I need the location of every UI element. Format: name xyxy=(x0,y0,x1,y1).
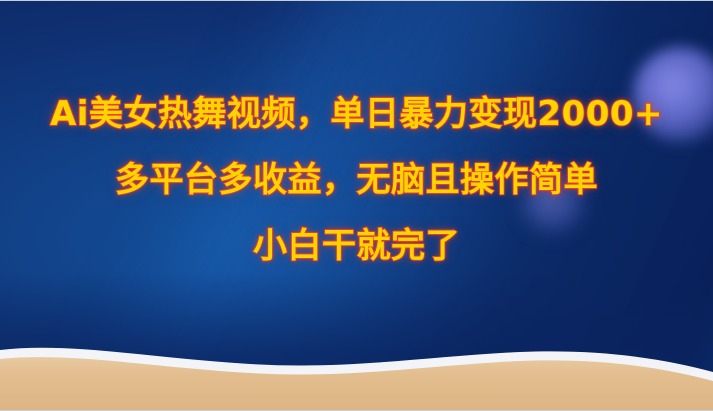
promo-banner: Ai美女热舞视频，单日暴力变现2000+ 多平台多收益，无脑且操作简单 小白干就… xyxy=(0,0,713,411)
sand-wave-footer-icon xyxy=(0,328,713,410)
